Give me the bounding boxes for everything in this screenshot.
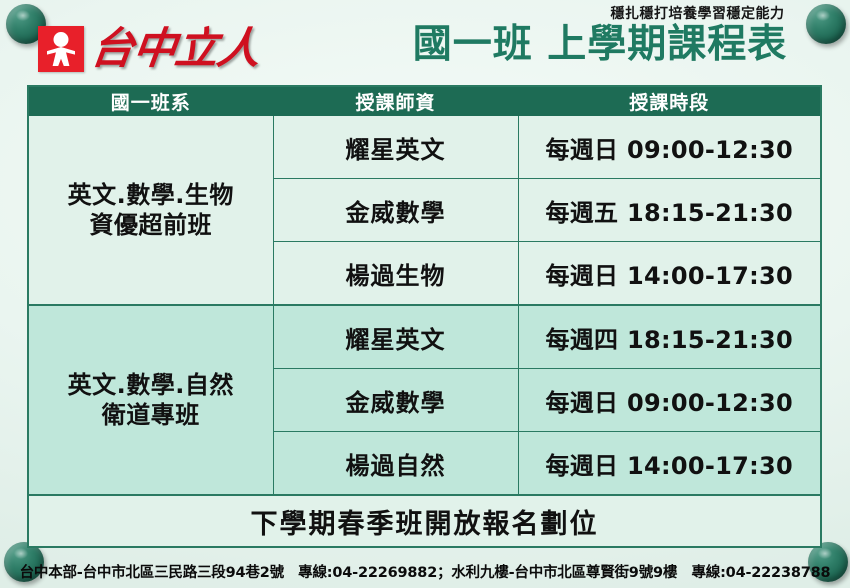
group-label-line1: 英文.數學.自然 <box>29 370 273 400</box>
column-header-class: 國一班系 <box>28 86 273 116</box>
schedule-table: 國一班系 授課師資 授課時段 英文.數學.生物 資優超前班 耀星英文 每週日 0… <box>27 85 822 548</box>
time-cell: 每週四 18:15-21:30 <box>518 305 821 369</box>
notice-row: 下學期春季班開放報名劃位 <box>28 495 821 547</box>
group-label-cell: 英文.數學.自然 衛道專班 <box>28 305 273 495</box>
poster-header: 台中立人 穩扎穩打培養學習穩定能力 國一班 上學期課程表 <box>0 0 850 86</box>
address-bar: 台中本部-台中市北區三民路三段94巷2號 專線:04-22269882；水利九樓… <box>0 554 850 588</box>
group-label-line1: 英文.數學.生物 <box>29 180 273 210</box>
table-header-row: 國一班系 授課師資 授課時段 <box>28 86 821 116</box>
teacher-cell: 金威數學 <box>273 179 518 242</box>
column-header-time: 授課時段 <box>518 86 821 116</box>
group-label-cell: 英文.數學.生物 資優超前班 <box>28 116 273 306</box>
time-cell: 每週日 09:00-12:30 <box>518 369 821 432</box>
page-title: 國一班 上學期課程表 <box>355 25 845 64</box>
group-label-line2: 資優超前班 <box>29 210 273 240</box>
notice-text: 下學期春季班開放報名劃位 <box>28 495 821 547</box>
address-text: 台中本部-台中市北區三民路三段94巷2號 專線:04-22269882；水利九樓… <box>20 561 831 582</box>
teacher-cell: 耀星英文 <box>273 305 518 369</box>
teacher-cell: 耀星英文 <box>273 116 518 179</box>
course-schedule-poster: 台中立人 穩扎穩打培養學習穩定能力 國一班 上學期課程表 國一班系 授課師資 授… <box>0 0 850 588</box>
person-body-shape <box>47 47 75 66</box>
time-cell: 每週日 14:00-17:30 <box>518 432 821 496</box>
time-cell: 每週日 14:00-17:30 <box>518 242 821 306</box>
brand-logo: 台中立人 <box>38 26 259 72</box>
brand-slogan: 穩扎穩打培養學習穩定能力 <box>555 3 840 23</box>
group-label-line2: 衛道專班 <box>29 400 273 430</box>
person-head-shape <box>54 32 69 47</box>
time-cell: 每週日 09:00-12:30 <box>518 116 821 179</box>
teacher-cell: 楊過自然 <box>273 432 518 496</box>
person-figure-icon <box>38 26 84 72</box>
column-header-teacher: 授課師資 <box>273 86 518 116</box>
table-row: 英文.數學.自然 衛道專班 耀星英文 每週四 18:15-21:30 <box>28 305 821 369</box>
time-cell: 每週五 18:15-21:30 <box>518 179 821 242</box>
brand-name: 台中立人 <box>88 28 261 71</box>
table-row: 英文.數學.生物 資優超前班 耀星英文 每週日 09:00-12:30 <box>28 116 821 179</box>
teacher-cell: 金威數學 <box>273 369 518 432</box>
teacher-cell: 楊過生物 <box>273 242 518 306</box>
